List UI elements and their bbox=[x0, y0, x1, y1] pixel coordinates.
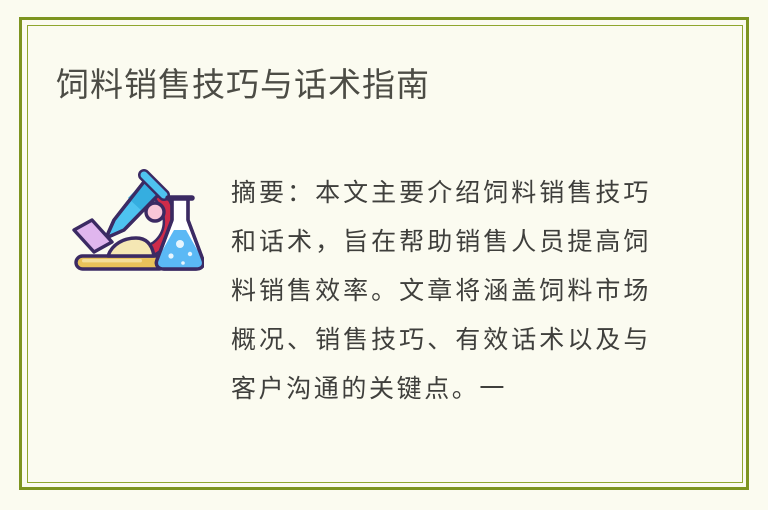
abstract-text: 摘要：本文主要介绍饲料销售技巧和话术，旨在帮助销售人员提高饲料销售效率。文章将涵… bbox=[231, 168, 651, 413]
article-body: 摘要：本文主要介绍饲料销售技巧和话术，旨在帮助销售人员提高饲料销售效率。文章将涵… bbox=[0, 160, 768, 420]
page-title: 饲料销售技巧与话术指南 bbox=[56, 63, 696, 107]
microscope-flask-icon bbox=[68, 168, 204, 278]
article-card: 饲料销售技巧与话术指南 bbox=[0, 0, 768, 510]
